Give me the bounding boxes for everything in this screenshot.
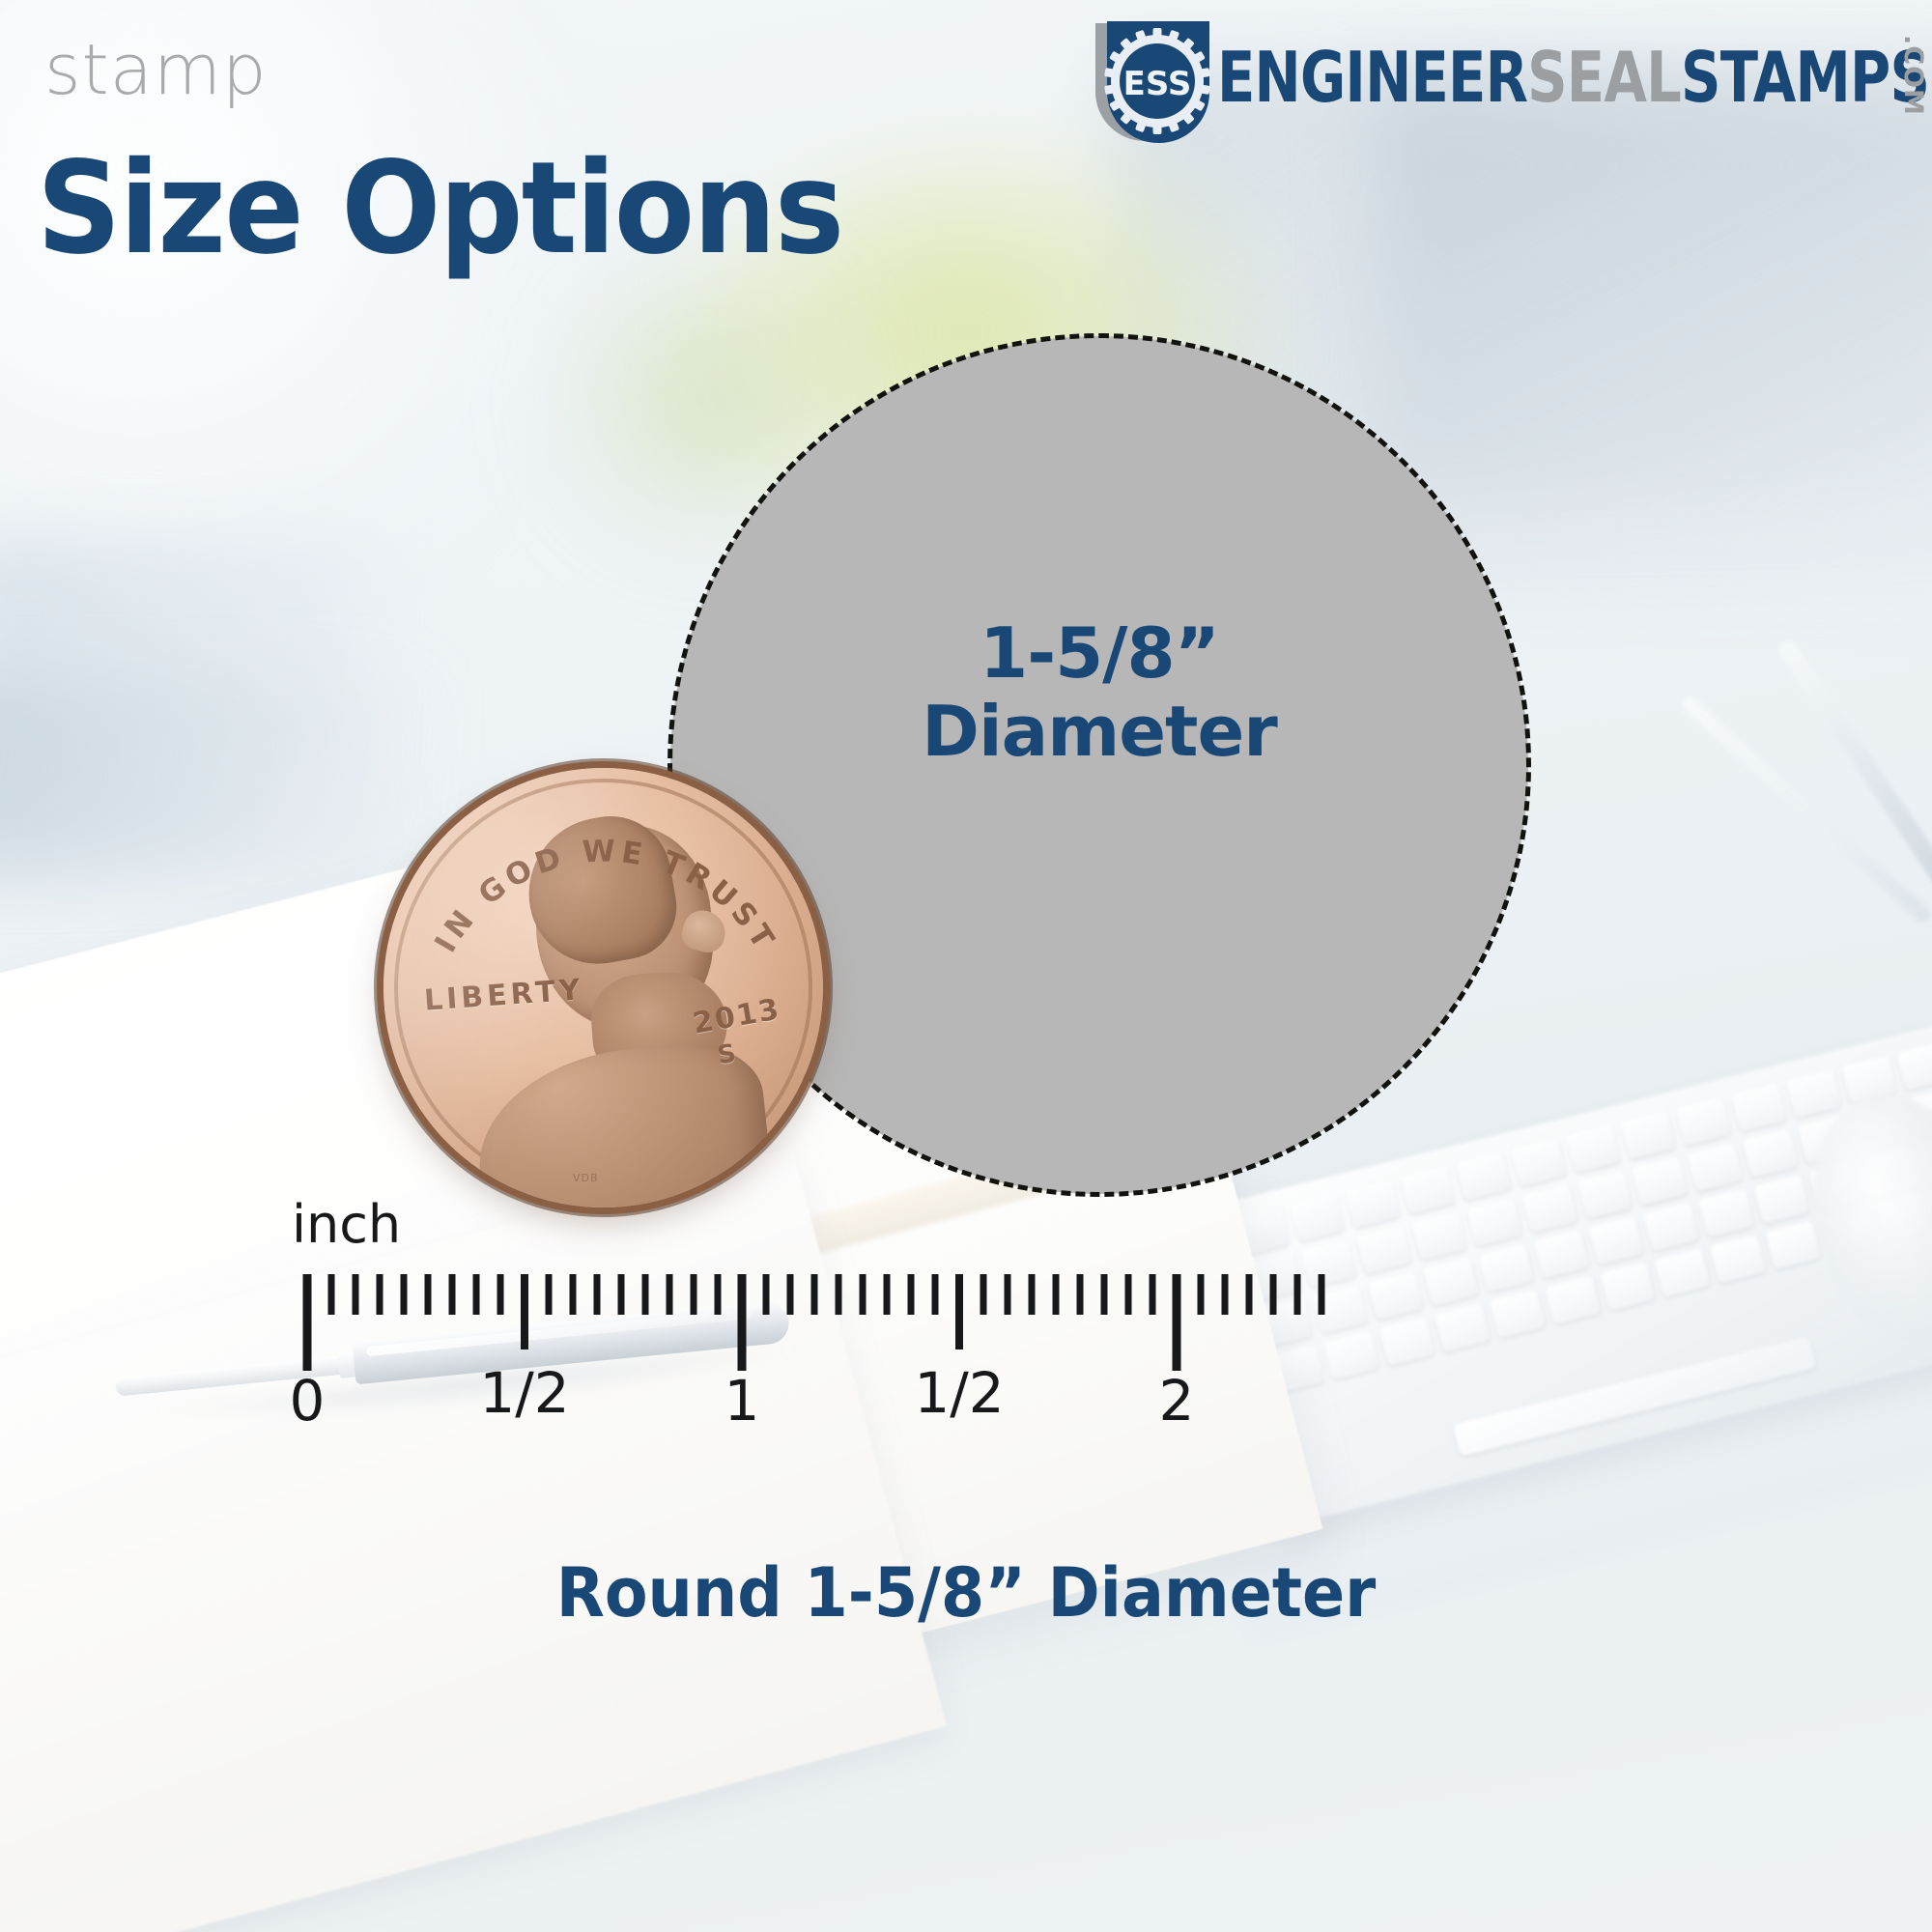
logo-word-seal: SEAL xyxy=(1527,37,1681,118)
logo-word-dotcom: .COM xyxy=(1898,35,1928,116)
logo-wordmark: ENGINEERSEALSTAMPS xyxy=(1217,43,1929,112)
stamp-circle-label: 1-5/8” Diameter xyxy=(670,614,1528,770)
logo-word-stamps: STAMPS xyxy=(1681,37,1929,118)
ess-shield-gear-icon: ESS xyxy=(1090,17,1215,143)
stamp-size-unit: Diameter xyxy=(670,693,1528,771)
size-options-infographic: stamp Size Options xyxy=(0,0,1932,1932)
company-logo[interactable]: ESS ENGINEERSEALSTAMPS .COM xyxy=(1090,17,1901,143)
logo-word-engineer: ENGINEER xyxy=(1217,37,1527,118)
product-size-caption: Round 1-5/8” Diameter xyxy=(68,1553,1864,1633)
brand-word: stamp xyxy=(44,35,268,104)
stamp-size-value: 1-5/8” xyxy=(670,614,1528,693)
us-penny-coin: IN GOD WE TRUST LIBERTY 2013 S VDB xyxy=(384,768,823,1207)
page-title: Size Options xyxy=(37,145,842,272)
svg-text:ESS: ESS xyxy=(1123,65,1192,103)
background-glass-panel-lower xyxy=(0,676,435,869)
